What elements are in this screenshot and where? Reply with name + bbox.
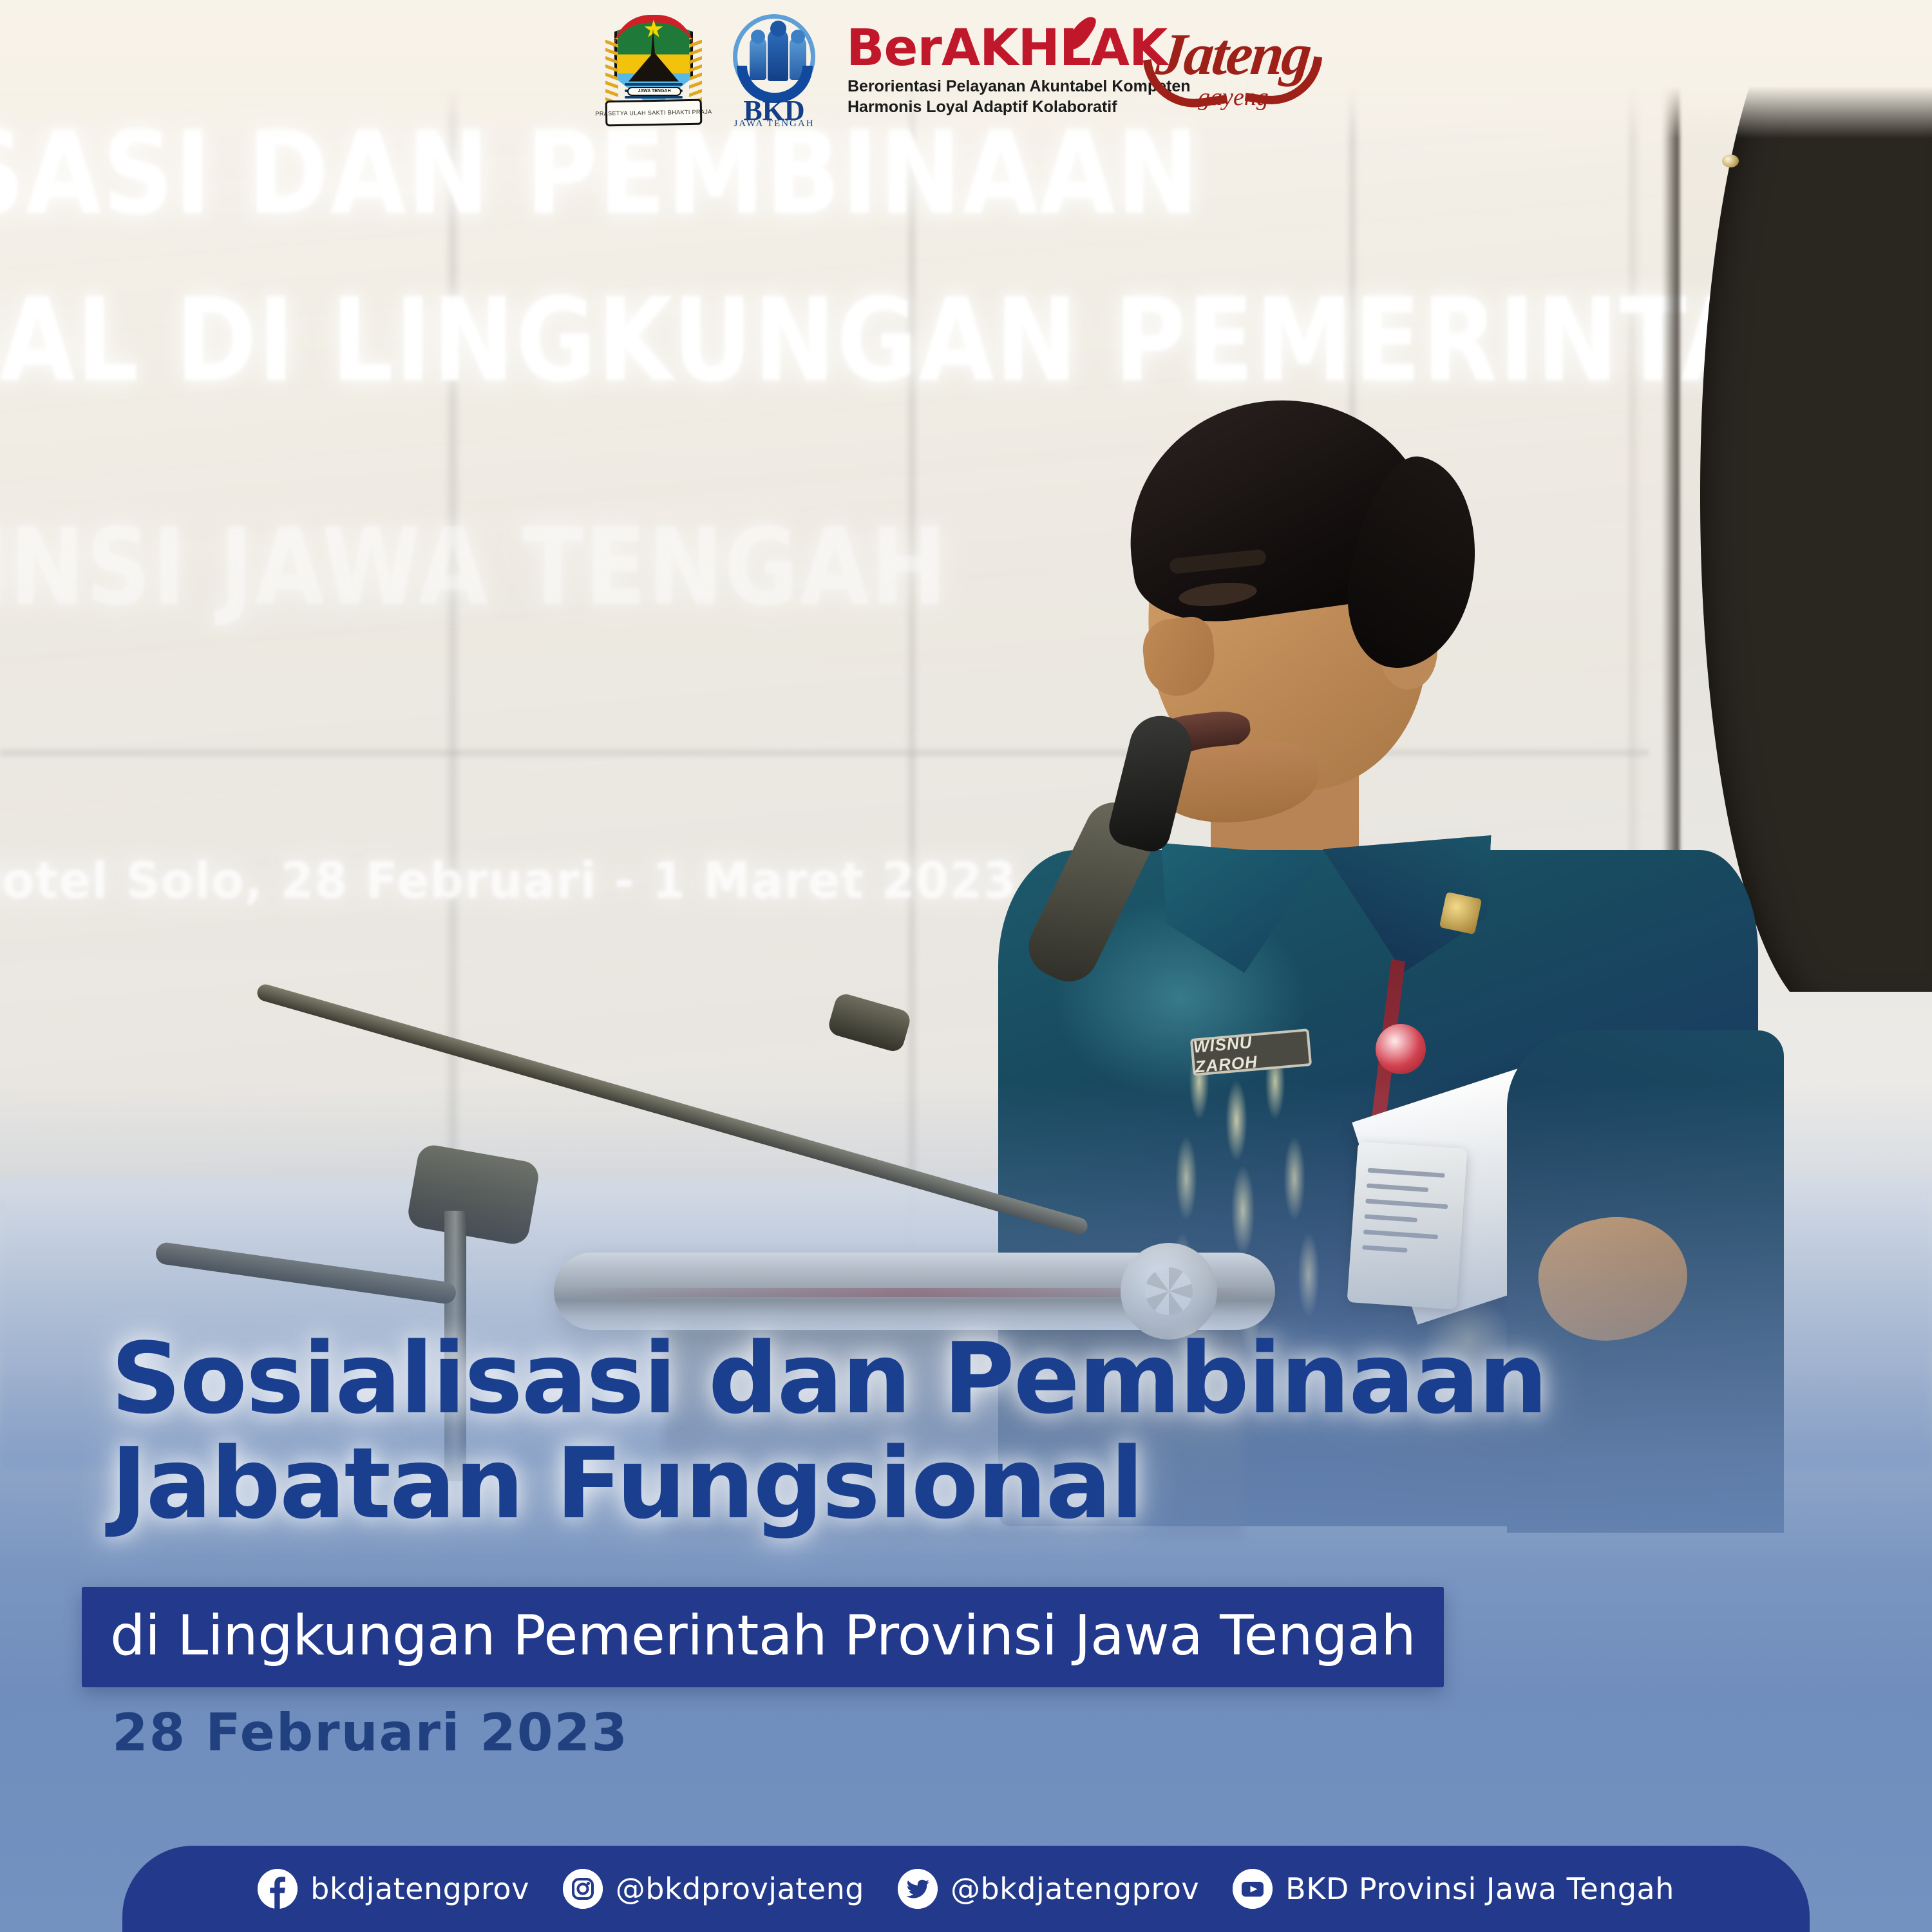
jateng-gayeng-logo: Jateng gayeng: [1140, 16, 1327, 122]
berakhlak-logo: BerAKHLAK Berorientasi Pelayanan Akuntab…: [846, 18, 1123, 121]
facebook-handle[interactable]: bkdjatengprov: [310, 1871, 529, 1906]
berakhlak-wordmark: BerAKHLAK: [846, 19, 1167, 77]
projected-slide-venue-date: Hotel Solo, 28 Februari - 1 Maret 2023: [0, 852, 1017, 910]
poster-canvas: ISASI DAN PEMBINAAN NAL DI LINGKUNGAN PE…: [0, 0, 1932, 1932]
instagram-handle[interactable]: @bkdprovjateng: [616, 1871, 864, 1906]
title-block: Sosialisasi dan Pembinaan Jabatan Fungsi…: [0, 1327, 1932, 1536]
bkd-subtitle: JAWA TENGAH: [719, 118, 829, 129]
twitter-handle[interactable]: @bkdjatengprov: [951, 1871, 1199, 1906]
event-date: 28 Februari 2023: [112, 1703, 629, 1763]
facebook-icon[interactable]: [258, 1869, 298, 1909]
crest-province-label: JAWA TENGAH: [638, 89, 670, 93]
jawa-tengah-crest-icon: JAWA TENGAH PRASETYA ULAH SAKTI BHAKTI P…: [605, 12, 702, 127]
instagram-icon[interactable]: [563, 1869, 603, 1909]
brass-stud: [1722, 155, 1739, 167]
twitter-icon[interactable]: [898, 1869, 938, 1909]
page-title: Sosialisasi dan Pembinaan Jabatan Fungsi…: [0, 1327, 1932, 1536]
header-logo-strip: JAWA TENGAH PRASETYA ULAH SAKTI BHAKTI P…: [0, 0, 1932, 138]
berakhlak-tagline-line-2: Harmonis Loyal Adaptif Kolaboratif: [848, 98, 1117, 117]
title-line-1: Sosialisasi dan Pembinaan: [111, 1321, 1547, 1435]
youtube-handle[interactable]: BKD Provinsi Jawa Tengah: [1285, 1871, 1674, 1906]
red-badge-pin: [1376, 1024, 1426, 1074]
jateng-wordmark: Jateng: [1136, 20, 1330, 88]
gayeng-wordmark: gayeng: [1140, 83, 1327, 111]
social-account-instagram[interactable]: @bkdprovjateng: [563, 1869, 864, 1909]
bkd-logo-icon: BKD JAWA TENGAH: [719, 12, 829, 128]
social-account-twitter[interactable]: @bkdjatengprov: [898, 1869, 1199, 1909]
subtitle-text: di Lingkungan Pemerintah Provinsi Jawa T…: [110, 1604, 1416, 1668]
youtube-icon[interactable]: [1233, 1869, 1273, 1909]
social-media-footer: bkdjatengprov @bkdprovjateng @bkdjat: [122, 1846, 1810, 1932]
shirt-pin: [1439, 892, 1482, 934]
projected-slide-line-3: VINSI JAWA TENGAH: [0, 506, 947, 629]
subtitle-banner: di Lingkungan Pemerintah Provinsi Jawa T…: [82, 1587, 1444, 1687]
social-account-youtube[interactable]: BKD Provinsi Jawa Tengah: [1233, 1869, 1674, 1909]
social-account-facebook[interactable]: bkdjatengprov: [258, 1869, 529, 1909]
crest-motto: PRASETYA ULAH SAKTI BHAKTI PRAJA: [595, 108, 712, 117]
title-line-2: Jabatan Fungsional: [111, 1426, 1142, 1540]
